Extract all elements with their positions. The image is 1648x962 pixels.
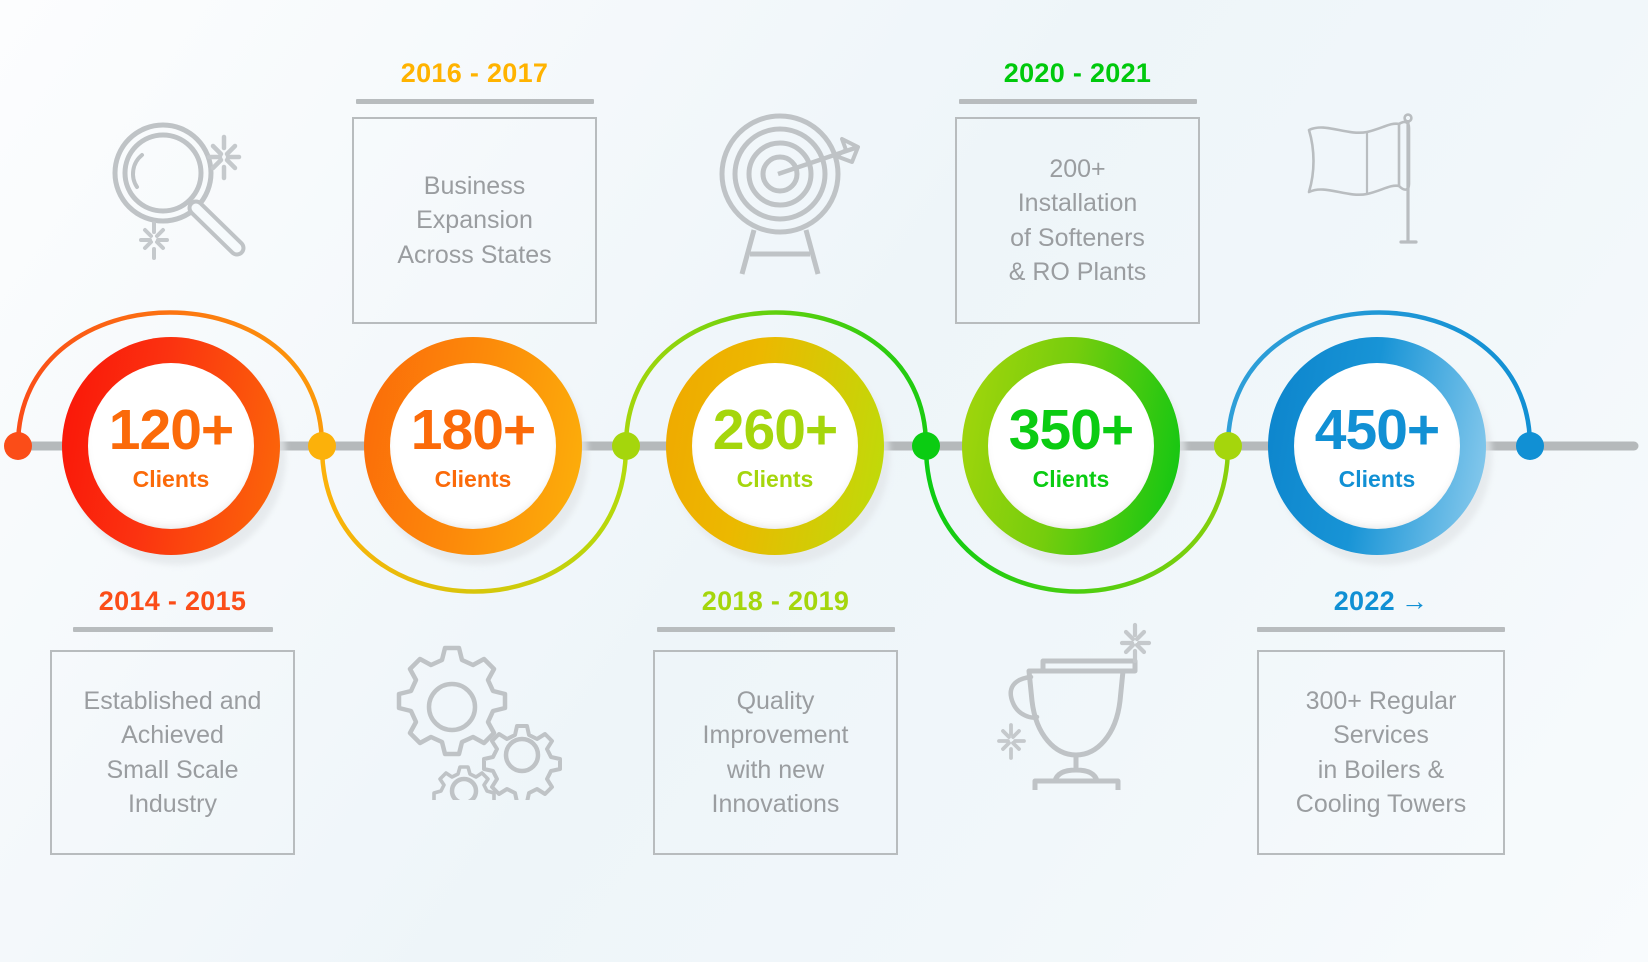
year-block-5: 2022→: [1257, 586, 1505, 632]
year-label-5-text: 2022: [1334, 586, 1395, 616]
trophy-icon: [985, 615, 1160, 790]
description-box-2: Business Expansion Across States: [352, 117, 597, 324]
milestone-circle-4[interactable]: 350+ Clients: [962, 337, 1180, 555]
milestone-unit-3: Clients: [713, 468, 837, 491]
year-label-1: 2014 - 2015: [50, 586, 295, 617]
year-rule: [1257, 627, 1505, 632]
year-label-2: 2016 - 2017: [352, 58, 597, 89]
target-icon: [708, 108, 868, 278]
milestone-unit-2: Clients: [411, 468, 535, 491]
description-box-5: 300+ Regular Services in Boilers & Cooli…: [1257, 650, 1505, 855]
dot-1-2: [308, 432, 336, 460]
milestone-count-2: 180+: [411, 402, 535, 459]
milestone-unit-5: Clients: [1315, 468, 1439, 491]
year-block-3: 2018 - 2019: [653, 586, 898, 632]
year-rule: [657, 627, 895, 632]
milestone-count-1: 120+: [109, 402, 233, 459]
year-rule: [959, 99, 1197, 104]
year-rule: [356, 99, 594, 104]
arrow-right-icon: →: [1401, 586, 1428, 617]
description-box-1: Established and Achieved Small Scale Ind…: [50, 650, 295, 855]
start-dot: [4, 432, 32, 460]
milestone-unit-4: Clients: [1009, 468, 1133, 491]
dot-4-5: [1214, 432, 1242, 460]
timeline-infographic: 120+ Clients 180+ Clients 260+ Clients 3…: [0, 0, 1648, 962]
milestone-count-5: 450+: [1315, 402, 1439, 459]
year-block-1: 2014 - 2015: [50, 586, 295, 632]
magnifier-icon: [100, 115, 260, 265]
year-rule: [73, 627, 273, 632]
milestone-circle-2[interactable]: 180+ Clients: [364, 337, 582, 555]
end-dot: [1516, 432, 1544, 460]
dot-2-3: [612, 432, 640, 460]
year-label-4: 2020 - 2021: [955, 58, 1200, 89]
year-block-2: 2016 - 2017: [352, 58, 597, 104]
milestone-circle-5[interactable]: 450+ Clients: [1268, 337, 1486, 555]
dot-3-4: [912, 432, 940, 460]
description-box-3: Quality Improvement with new Innovations: [653, 650, 898, 855]
milestone-count-4: 350+: [1009, 402, 1133, 459]
milestone-circle-1[interactable]: 120+ Clients: [62, 337, 280, 555]
flag-icon: [1295, 110, 1435, 250]
milestone-count-3: 260+: [713, 402, 837, 459]
milestone-circle-3[interactable]: 260+ Clients: [666, 337, 884, 555]
year-label-3: 2018 - 2019: [653, 586, 898, 617]
year-label-5: 2022→: [1257, 586, 1505, 617]
milestone-unit-1: Clients: [109, 468, 233, 491]
gears-icon: [385, 630, 565, 800]
description-box-4: 200+ Installation of Softeners & RO Plan…: [955, 117, 1200, 324]
year-block-4: 2020 - 2021: [955, 58, 1200, 104]
